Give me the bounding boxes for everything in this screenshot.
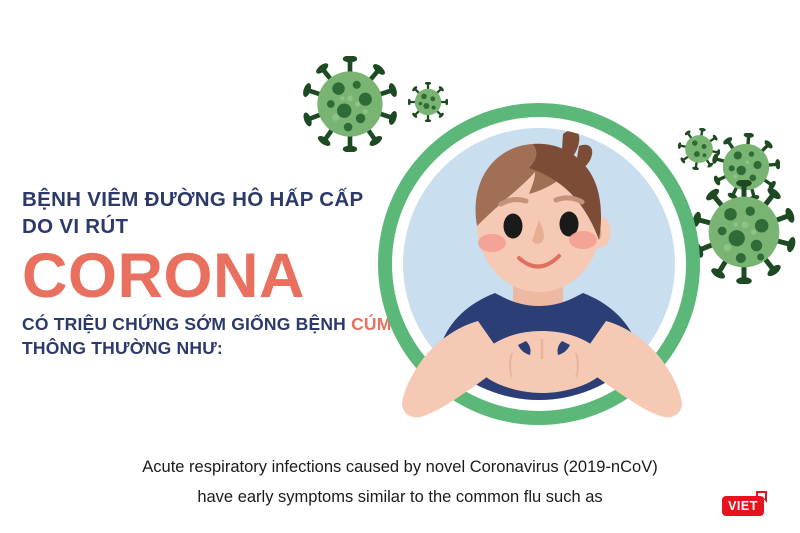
viet-logo[interactable]: VIET bbox=[722, 490, 774, 520]
virus-particle-large-right bbox=[692, 180, 796, 284]
illustration-container bbox=[378, 103, 706, 435]
viet-logo-label: VIET bbox=[722, 496, 764, 516]
page-title-corona: CORONA bbox=[22, 242, 392, 310]
english-caption: Acute respiratory infections caused by n… bbox=[0, 452, 800, 512]
poster-root: BỆNH VIÊM ĐƯỜNG HÔ HẤP CẤP DO VI RÚT COR… bbox=[0, 0, 800, 533]
english-line-1: Acute respiratory infections caused by n… bbox=[0, 452, 800, 482]
headline-line-2: DO VI RÚT bbox=[22, 213, 392, 240]
subheadline-line-1: CÓ TRIỆU CHỨNG SỚM GIỐNG BỆNH CÚM bbox=[22, 312, 392, 336]
headline-block: BỆNH VIÊM ĐƯỜNG HÔ HẤP CẤP DO VI RÚT COR… bbox=[22, 186, 392, 360]
headline-line-1: BỆNH VIÊM ĐƯỜNG HÔ HẤP CẤP bbox=[22, 186, 392, 213]
arms-and-folded-hands bbox=[366, 279, 718, 439]
subheadline-text-a: CÓ TRIỆU CHỨNG SỚM GIỐNG BỆNH bbox=[22, 314, 351, 334]
english-line-2: have early symptoms similar to the commo… bbox=[0, 482, 800, 512]
subheadline-line-2: THÔNG THƯỜNG NHƯ: bbox=[22, 336, 392, 360]
